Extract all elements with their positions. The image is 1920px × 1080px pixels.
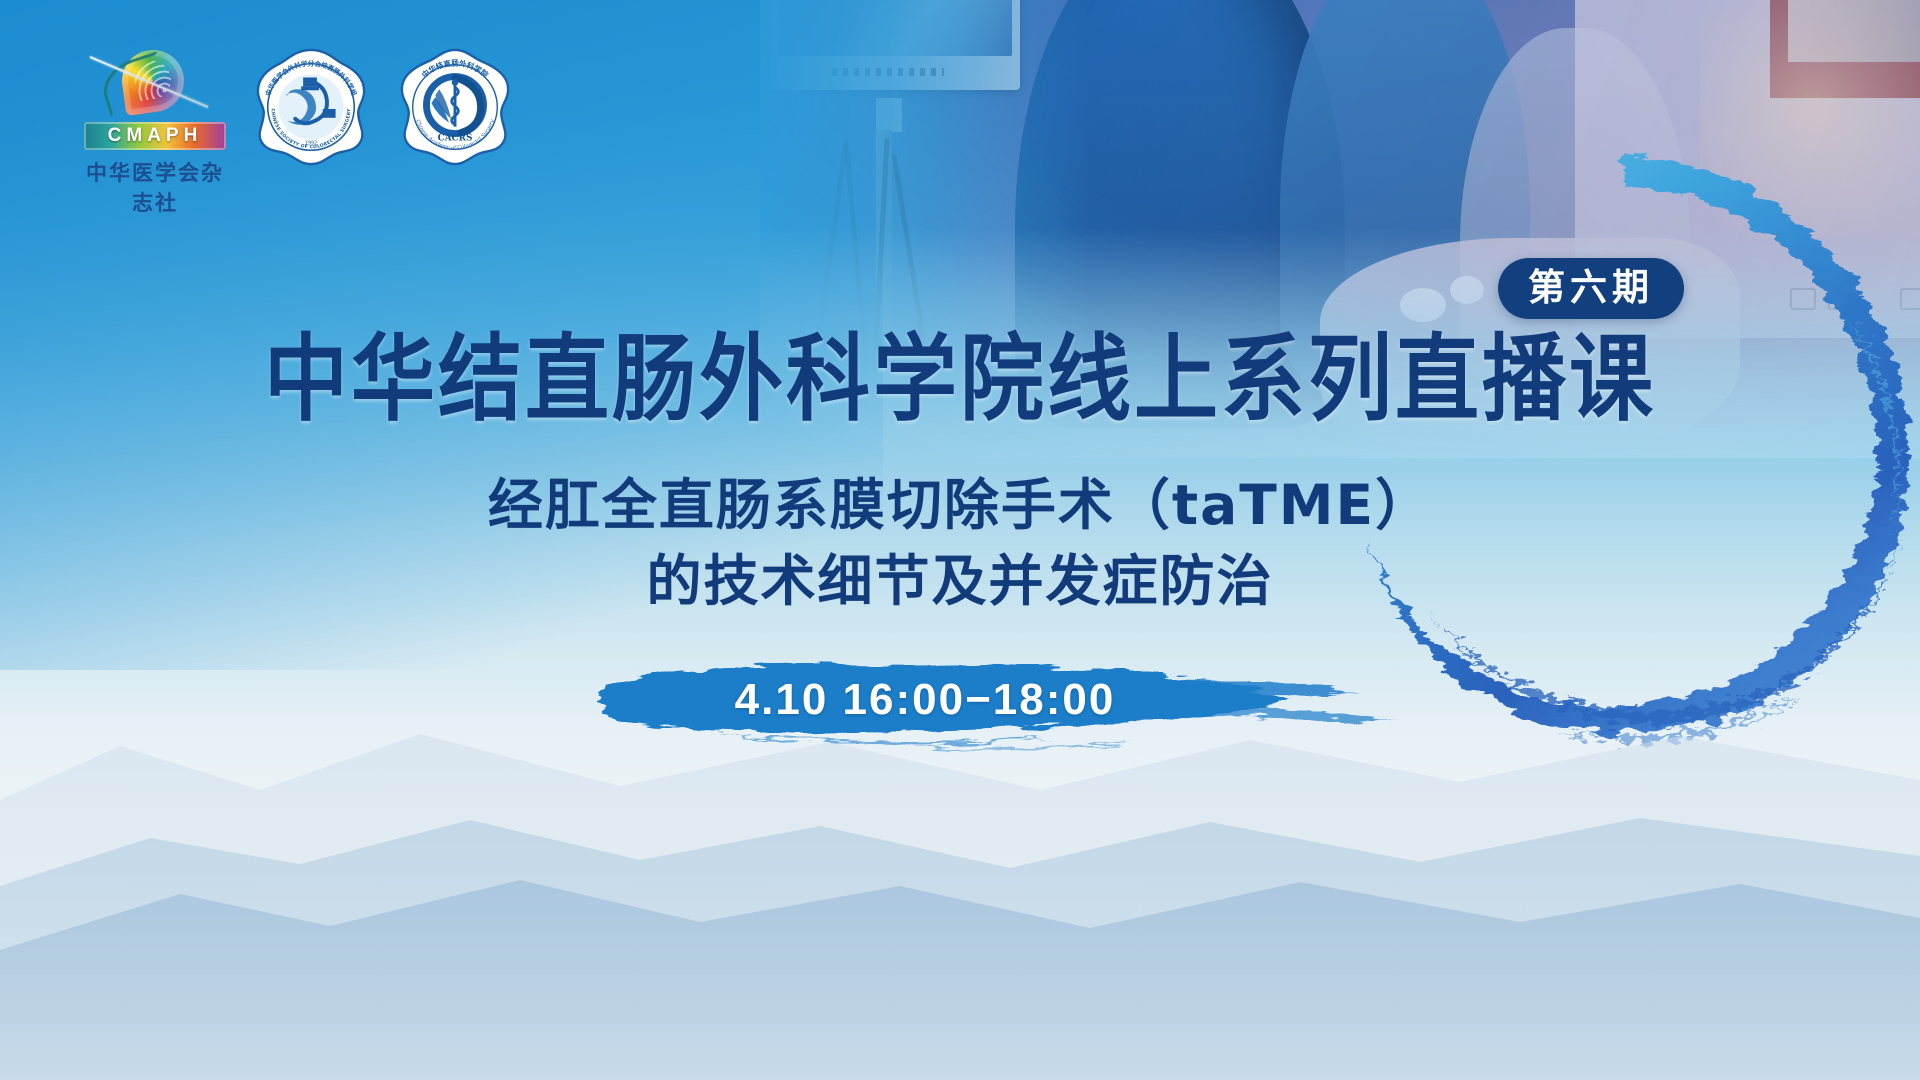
episode-badge: 第六期 (1498, 258, 1684, 319)
cmaph-chinese-name: 中华医学会杂志社 (84, 157, 226, 217)
date-time-text: 4.10 16:00−18:00 (590, 678, 1410, 722)
subtitle-line-2: 的技术细节及并发症防治 (0, 544, 1920, 620)
logo-chinese-society-colorectal-surgery: 中华医学会外科学分会结直肠外科学组 CHINESE SOCIETY OF COL… (252, 48, 370, 166)
subtitle-line-1: 经肛全直肠系膜切除手术（taTME） (0, 468, 1920, 544)
page-title: 中华结直肠外科学院线上系列直播课 (0, 332, 1920, 426)
logo-cmaph: CMAPH 中华医学会杂志社 (84, 48, 226, 217)
poster-canvas: CMAPH 中华医学会杂志社 中华医学会外科学分会结直肠外科学组 (0, 0, 1920, 1080)
rainbow-fan-bird-icon (84, 48, 226, 120)
seal-abbreviation: CACRS (438, 133, 473, 143)
poster-title-block: 中华结直肠外科学院线上系列直播课 (0, 332, 1920, 416)
organization-logos: CMAPH 中华医学会杂志社 中华医学会外科学分会结直肠外科学组 (84, 48, 514, 217)
seal-year: 1992 (305, 140, 318, 146)
date-time-banner: 4.10 16:00−18:00 (590, 648, 1410, 768)
logo-chinese-academy-colorectal-surgery: 中华结直肠外科学院 Chinese Academy of Colorectal … (396, 48, 514, 166)
cmaph-wordmark: CMAPH (84, 122, 226, 150)
poster-subtitle-block: 经肛全直肠系膜切除手术（taTME） 的技术细节及并发症防治 (0, 468, 1920, 620)
